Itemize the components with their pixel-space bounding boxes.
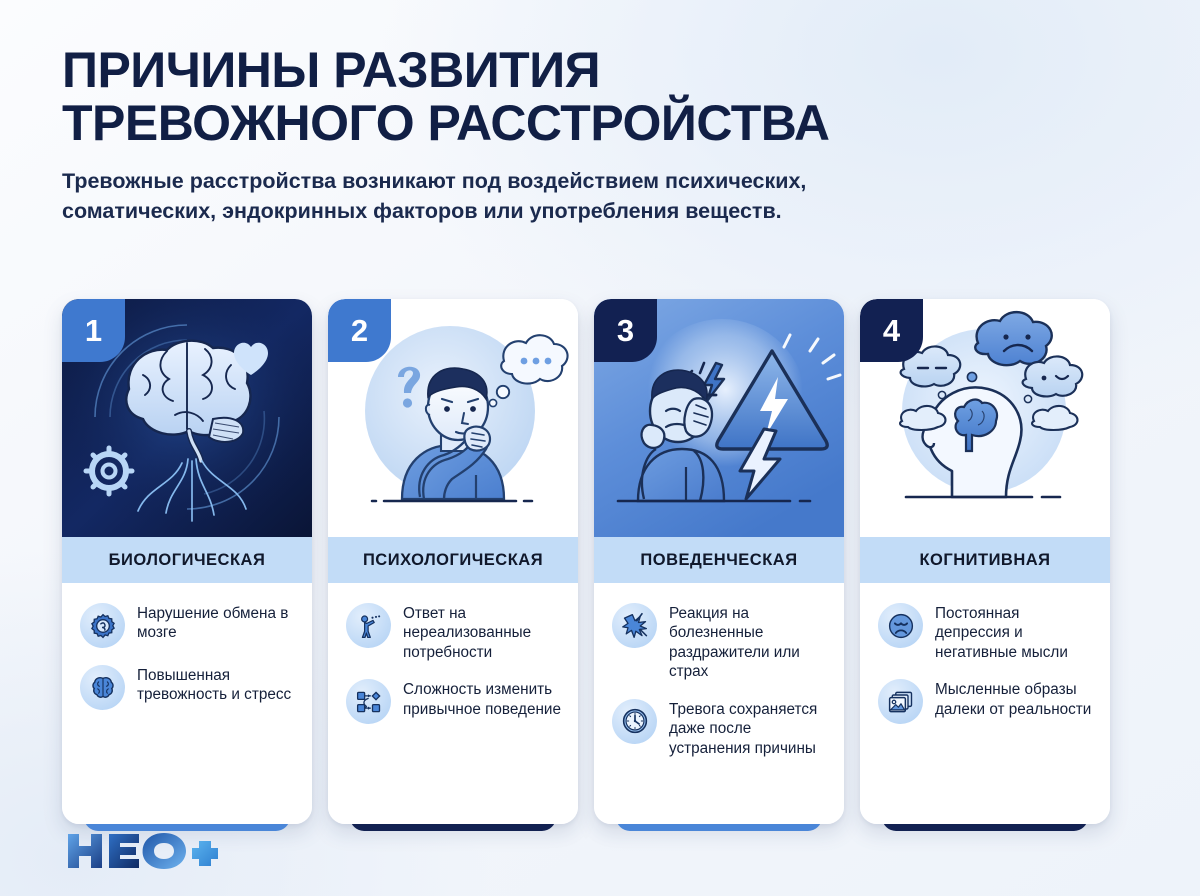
burst-impact-icon: [612, 603, 657, 648]
card-bullets: Постоянная депрессия и негативные мысли: [860, 583, 1110, 824]
bullet-item: Постоянная депрессия и негативные мысли: [878, 603, 1094, 662]
card-number: 4: [883, 313, 900, 349]
bullet-text: Ответ на нереализованные потребности: [403, 603, 562, 662]
card-number: 2: [351, 313, 368, 349]
brand-logo: [64, 828, 224, 874]
brain-icon: [80, 665, 125, 710]
card-label: ПОВЕДЕНЧЕСКАЯ: [594, 537, 844, 583]
card-bullets: Ответ на нереализованные потребности: [328, 583, 578, 824]
flowchart-icon: [346, 679, 391, 724]
card-label: ПСИХОЛОГИЧЕСКАЯ: [328, 537, 578, 583]
card-cognitive[interactable]: 4 КОГНИТИВНАЯ: [860, 299, 1110, 824]
card-illustration-thinking-person: 2: [328, 299, 578, 537]
gear-metabolism-icon: [80, 603, 125, 648]
card-label: КОГНИТИВНАЯ: [860, 537, 1110, 583]
bullet-item: Ответ на нереализованные потребности: [346, 603, 562, 662]
card-number-badge: 2: [328, 299, 391, 362]
bullet-item: Мысленные образы далеки от реальности: [878, 679, 1094, 724]
subtitle-line-1: Тревожные расстройства возникают под воз…: [62, 169, 806, 193]
sad-face-icon: [878, 603, 923, 648]
bullet-text: Нарушение обмена в мозге: [137, 603, 296, 643]
bullet-text: Мысленные образы далеки от реальности: [935, 679, 1094, 719]
title-line-1: ПРИЧИНЫ РАЗВИТИЯ: [62, 42, 600, 98]
bullet-item: Реакция на болезненные раздражители или …: [612, 603, 828, 682]
page-title: ПРИЧИНЫ РАЗВИТИЯ ТРЕВОЖНОГО РАССТРОЙСТВА: [62, 44, 1072, 150]
cards-row: 1 БИОЛОГИЧЕСКАЯ: [62, 299, 1140, 834]
bullet-item: Нарушение обмена в мозге: [80, 603, 296, 648]
card-bullets: Реакция на болезненные раздражители или …: [594, 583, 844, 824]
bullet-text: Повышенная тревожность и стресс: [137, 665, 296, 705]
card-biological[interactable]: 1 БИОЛОГИЧЕСКАЯ: [62, 299, 312, 824]
header: ПРИЧИНЫ РАЗВИТИЯ ТРЕВОЖНОГО РАССТРОЙСТВА…: [62, 44, 1072, 226]
bullet-text: Постоянная депрессия и негативные мысли: [935, 603, 1094, 662]
photos-icon: [878, 679, 923, 724]
bullet-text: Сложность изменить привычное поведение: [403, 679, 562, 719]
card-behavioral[interactable]: 3 ПОВЕДЕНЧЕСКАЯ: [594, 299, 844, 824]
page-subtitle: Тревожные расстройства возникают под воз…: [62, 166, 967, 226]
card-number-badge: 4: [860, 299, 923, 362]
card-bullets: Нарушение обмена в мозге: [62, 583, 312, 824]
card-number: 3: [617, 313, 634, 349]
bullet-item: Тревога сохраняется даже после устранени…: [612, 699, 828, 758]
subtitle-line-2: соматических, эндокринных факторов или у…: [62, 196, 967, 226]
card-number-badge: 3: [594, 299, 657, 362]
card-illustration-head-clouds: 4: [860, 299, 1110, 537]
clock-icon: [612, 699, 657, 744]
card-illustration-startled-person: 3: [594, 299, 844, 537]
bullet-item: Сложность изменить привычное поведение: [346, 679, 562, 724]
infographic-page: ПРИЧИНЫ РАЗВИТИЯ ТРЕВОЖНОГО РАССТРОЙСТВА…: [0, 0, 1200, 896]
title-line-2: ТРЕВОЖНОГО РАССТРОЙСТВА: [62, 97, 1072, 150]
bullet-text: Реакция на болезненные раздражители или …: [669, 603, 828, 682]
card-illustration-brain: 1: [62, 299, 312, 537]
card-number: 1: [85, 313, 102, 349]
card-label: БИОЛОГИЧЕСКАЯ: [62, 537, 312, 583]
person-reaching-icon: [346, 603, 391, 648]
bullet-item: Повышенная тревожность и стресс: [80, 665, 296, 710]
bullet-text: Тревога сохраняется даже после устранени…: [669, 699, 828, 758]
card-number-badge: 1: [62, 299, 125, 362]
card-psychological[interactable]: 2 ПСИХОЛОГИЧЕСКАЯ: [328, 299, 578, 824]
